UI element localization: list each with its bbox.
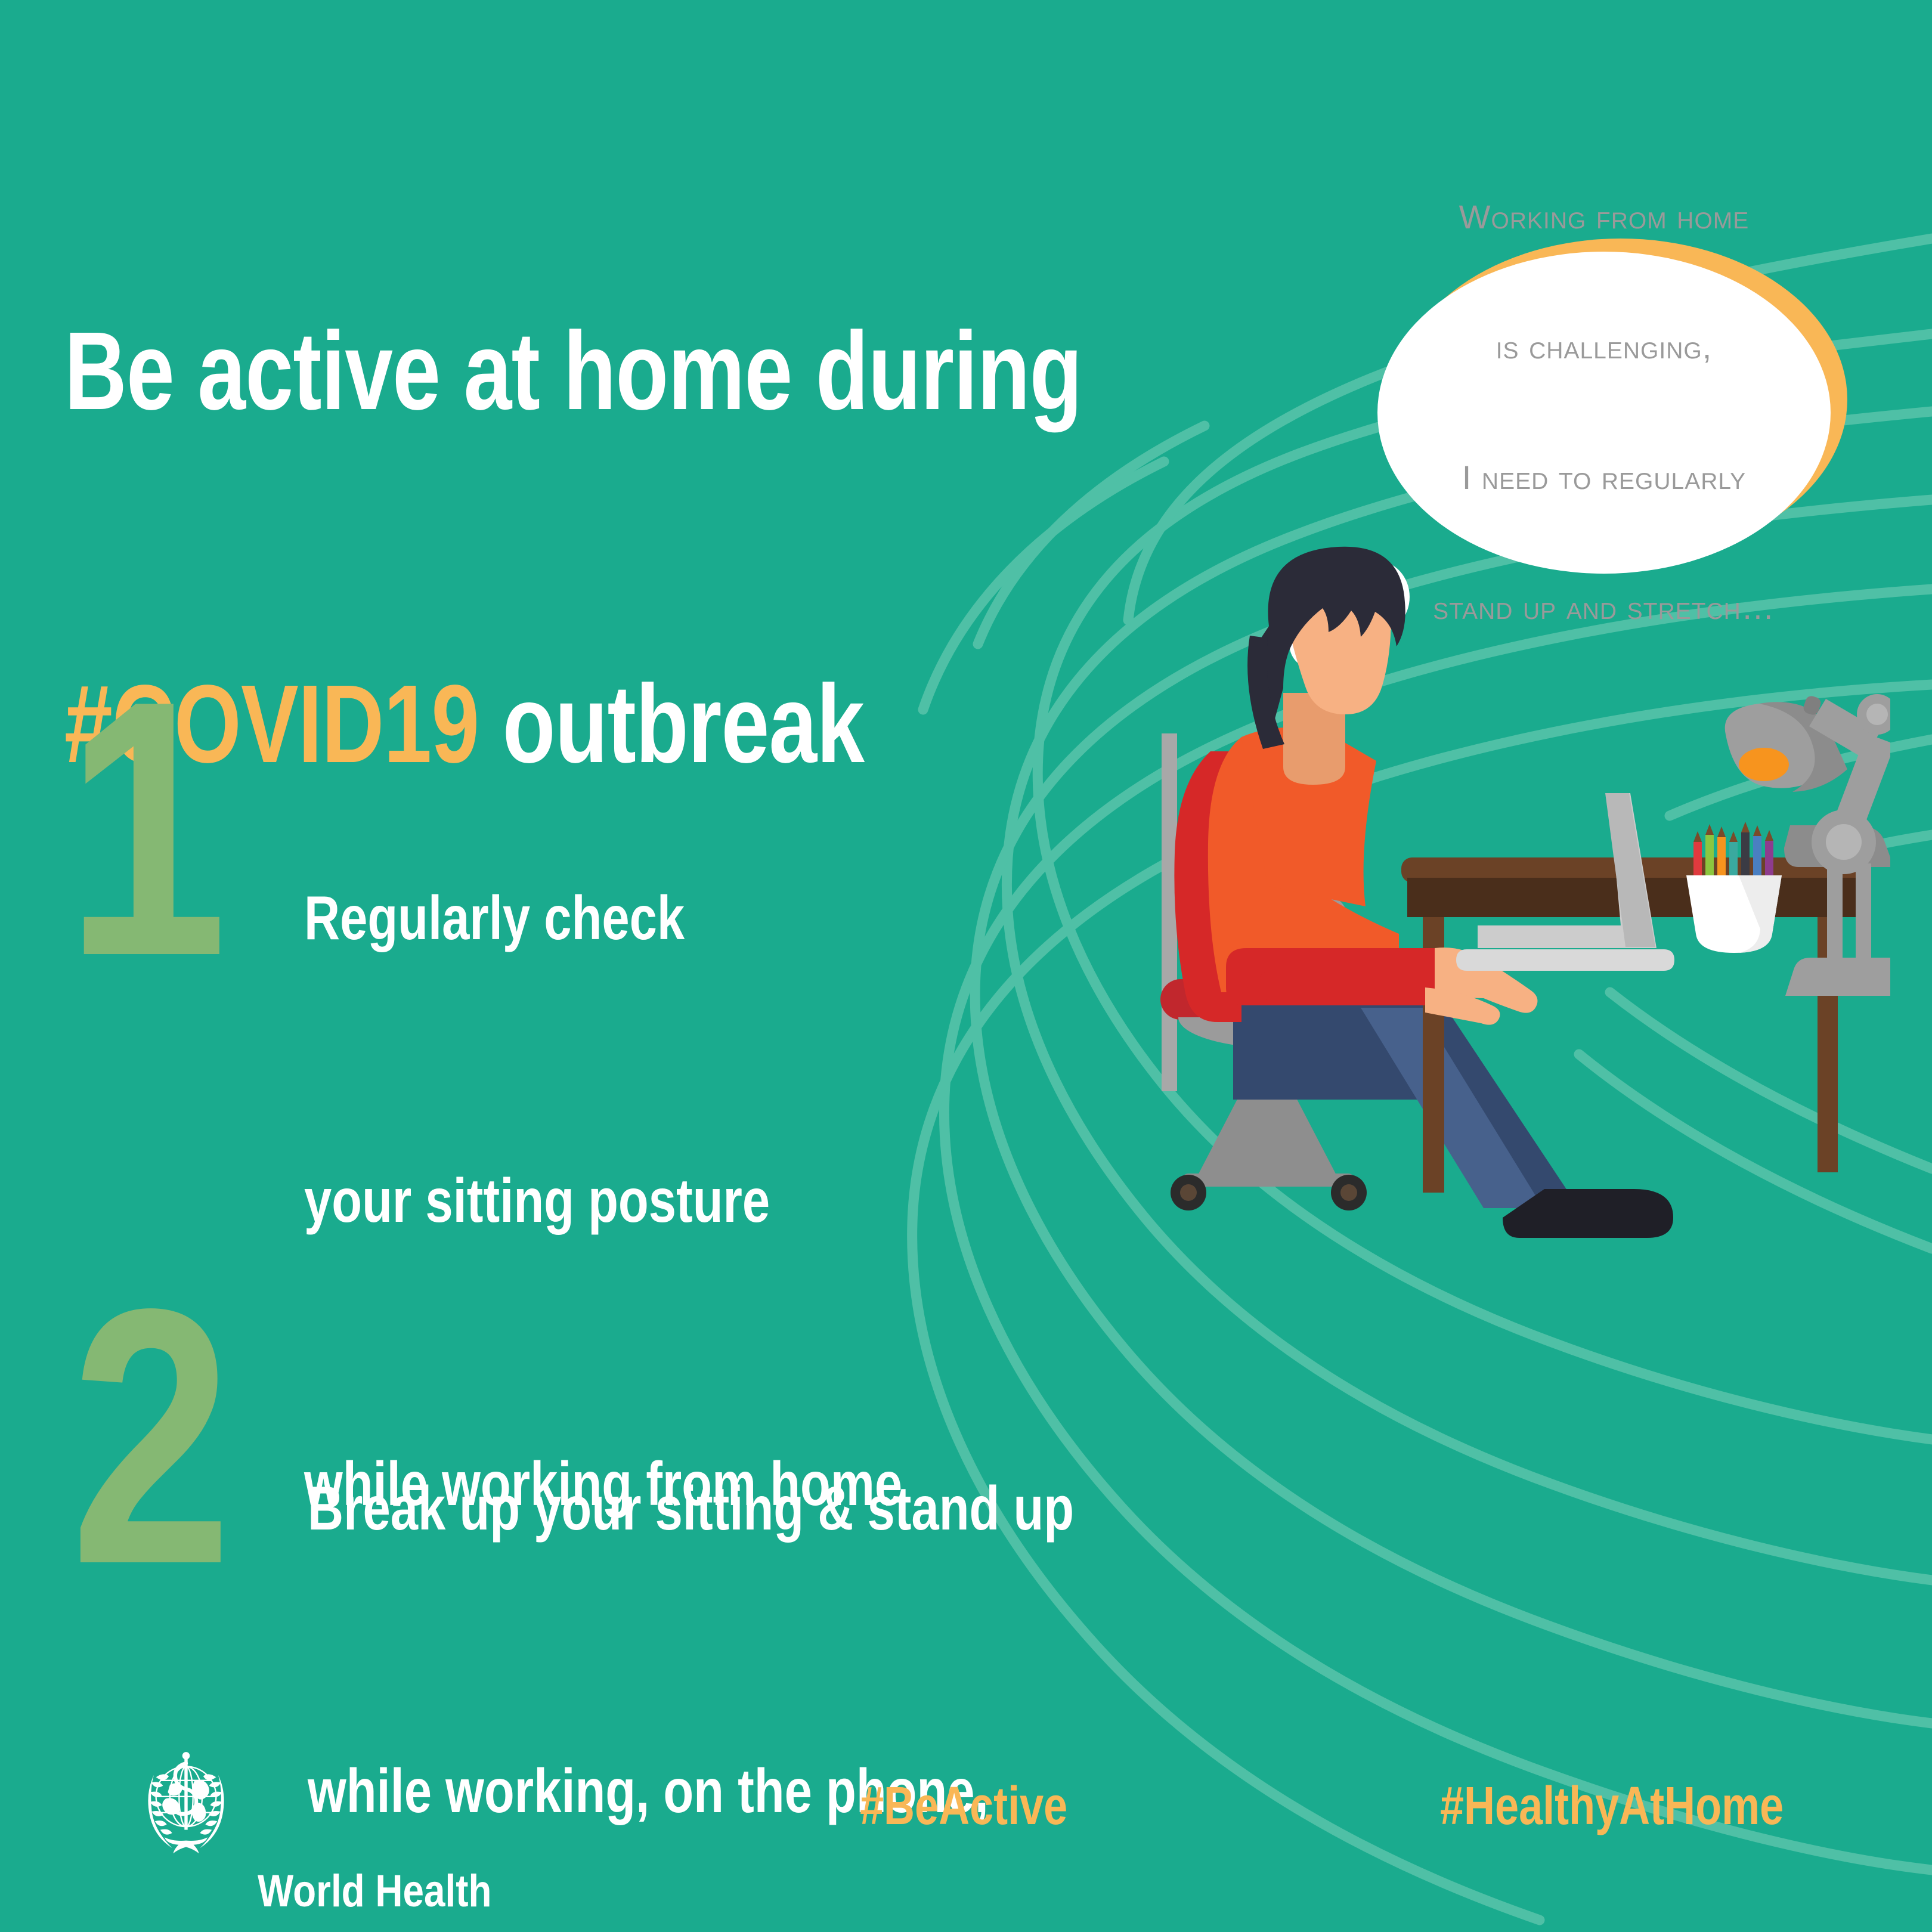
hashtag-beactive[interactable]: #BeActive	[860, 1776, 1067, 1837]
hashtag-healthyathome[interactable]: #HealthyAtHome	[1440, 1776, 1784, 1837]
tip1-line-1: Regularly check	[304, 871, 902, 965]
headline-line-1: Be active at home during	[64, 312, 1088, 430]
bubble-line-2: is challenging,	[1433, 326, 1775, 369]
tip1-line-2: your sitting posture	[304, 1154, 902, 1248]
who-name-line-1: World Health	[258, 1865, 492, 1918]
thought-bubble-body: Working from home is challenging, I need…	[1377, 252, 1831, 574]
who-emblem-icon	[132, 1747, 240, 1854]
bubble-line-3: I need to regularly	[1433, 456, 1775, 500]
poster-canvas: Be active at home during #COVID19 outbre…	[0, 0, 1932, 1932]
tip2-line-1: Break up your sitting & stand up	[308, 1462, 1074, 1556]
footer: World Health Organization #BeActive #Hea…	[0, 1753, 1932, 1932]
who-organization-name: World Health Organization	[258, 1758, 492, 1932]
illustration-person-at-desk	[1091, 537, 1890, 1288]
tip-number-1: 1	[66, 647, 227, 1011]
bubble-line-1: Working from home	[1433, 196, 1775, 239]
pencil-cup	[1686, 822, 1782, 953]
tip-number-2: 2	[70, 1255, 232, 1619]
